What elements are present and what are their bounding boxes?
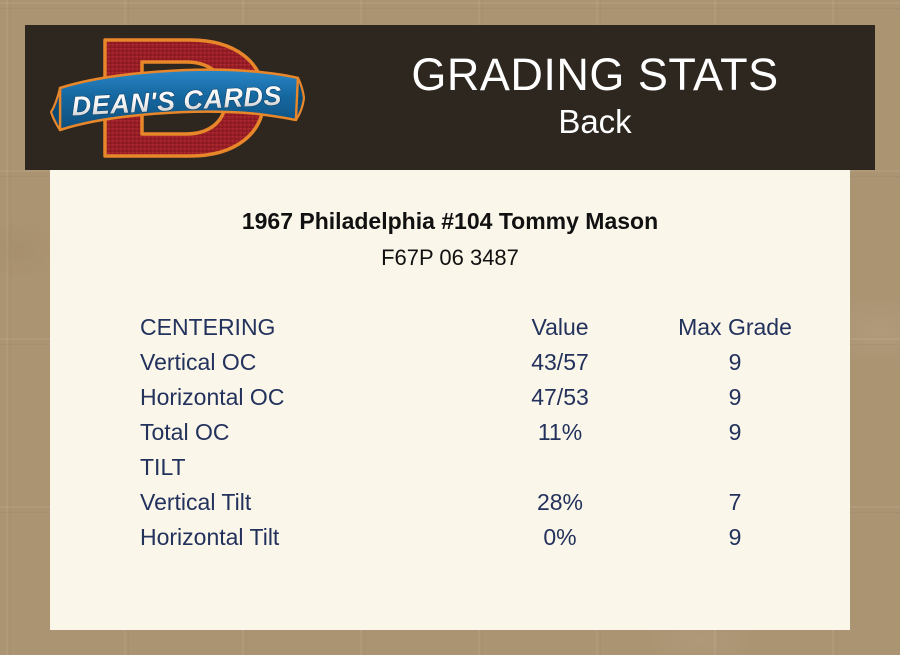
row-label: Vertical OC xyxy=(140,345,470,380)
header-title-group: GRADING STATS Back xyxy=(315,25,875,170)
section-header-tilt: TILT xyxy=(140,450,470,485)
table-header-row: CENTERING Value Max Grade xyxy=(140,310,820,345)
row-grade: 9 xyxy=(650,520,820,555)
row-grade: 9 xyxy=(650,380,820,415)
section-header-spacer-value xyxy=(470,450,650,485)
card-serial-number: F67P 06 3487 xyxy=(50,245,850,271)
table-row: Vertical Tilt 28% 7 xyxy=(140,485,820,520)
column-header-value: Value xyxy=(470,310,650,345)
grading-stats-table: CENTERING Value Max Grade Vertical OC 43… xyxy=(140,310,820,555)
row-value: 28% xyxy=(470,485,650,520)
row-label: Horizontal Tilt xyxy=(140,520,470,555)
content-panel: 1967 Philadelphia #104 Tommy Mason F67P … xyxy=(50,170,850,630)
table-row: Horizontal Tilt 0% 9 xyxy=(140,520,820,555)
row-value: 0% xyxy=(470,520,650,555)
table-row: Horizontal OC 47/53 9 xyxy=(140,380,820,415)
table-row: Total OC 11% 9 xyxy=(140,415,820,450)
row-label: Horizontal OC xyxy=(140,380,470,415)
row-grade: 7 xyxy=(650,485,820,520)
row-label: Total OC xyxy=(140,415,470,450)
row-grade: 9 xyxy=(650,345,820,380)
header-bar: DEAN'S CARDS GRADING STATS Back xyxy=(25,25,875,170)
row-label: Vertical Tilt xyxy=(140,485,470,520)
row-value: 47/53 xyxy=(470,380,650,415)
row-value: 43/57 xyxy=(470,345,650,380)
row-value: 11% xyxy=(470,415,650,450)
page-subtitle: Back xyxy=(558,102,631,142)
row-grade: 9 xyxy=(650,415,820,450)
section-header-spacer-grade xyxy=(650,450,820,485)
column-header-centering: CENTERING xyxy=(140,310,470,345)
table-section-header-row: TILT xyxy=(140,450,820,485)
column-header-max-grade: Max Grade xyxy=(650,310,820,345)
deans-cards-logo[interactable]: DEAN'S CARDS xyxy=(50,28,305,168)
page-title: GRADING STATS xyxy=(411,48,778,102)
table-row: Vertical OC 43/57 9 xyxy=(140,345,820,380)
card-title: 1967 Philadelphia #104 Tommy Mason xyxy=(50,208,850,235)
